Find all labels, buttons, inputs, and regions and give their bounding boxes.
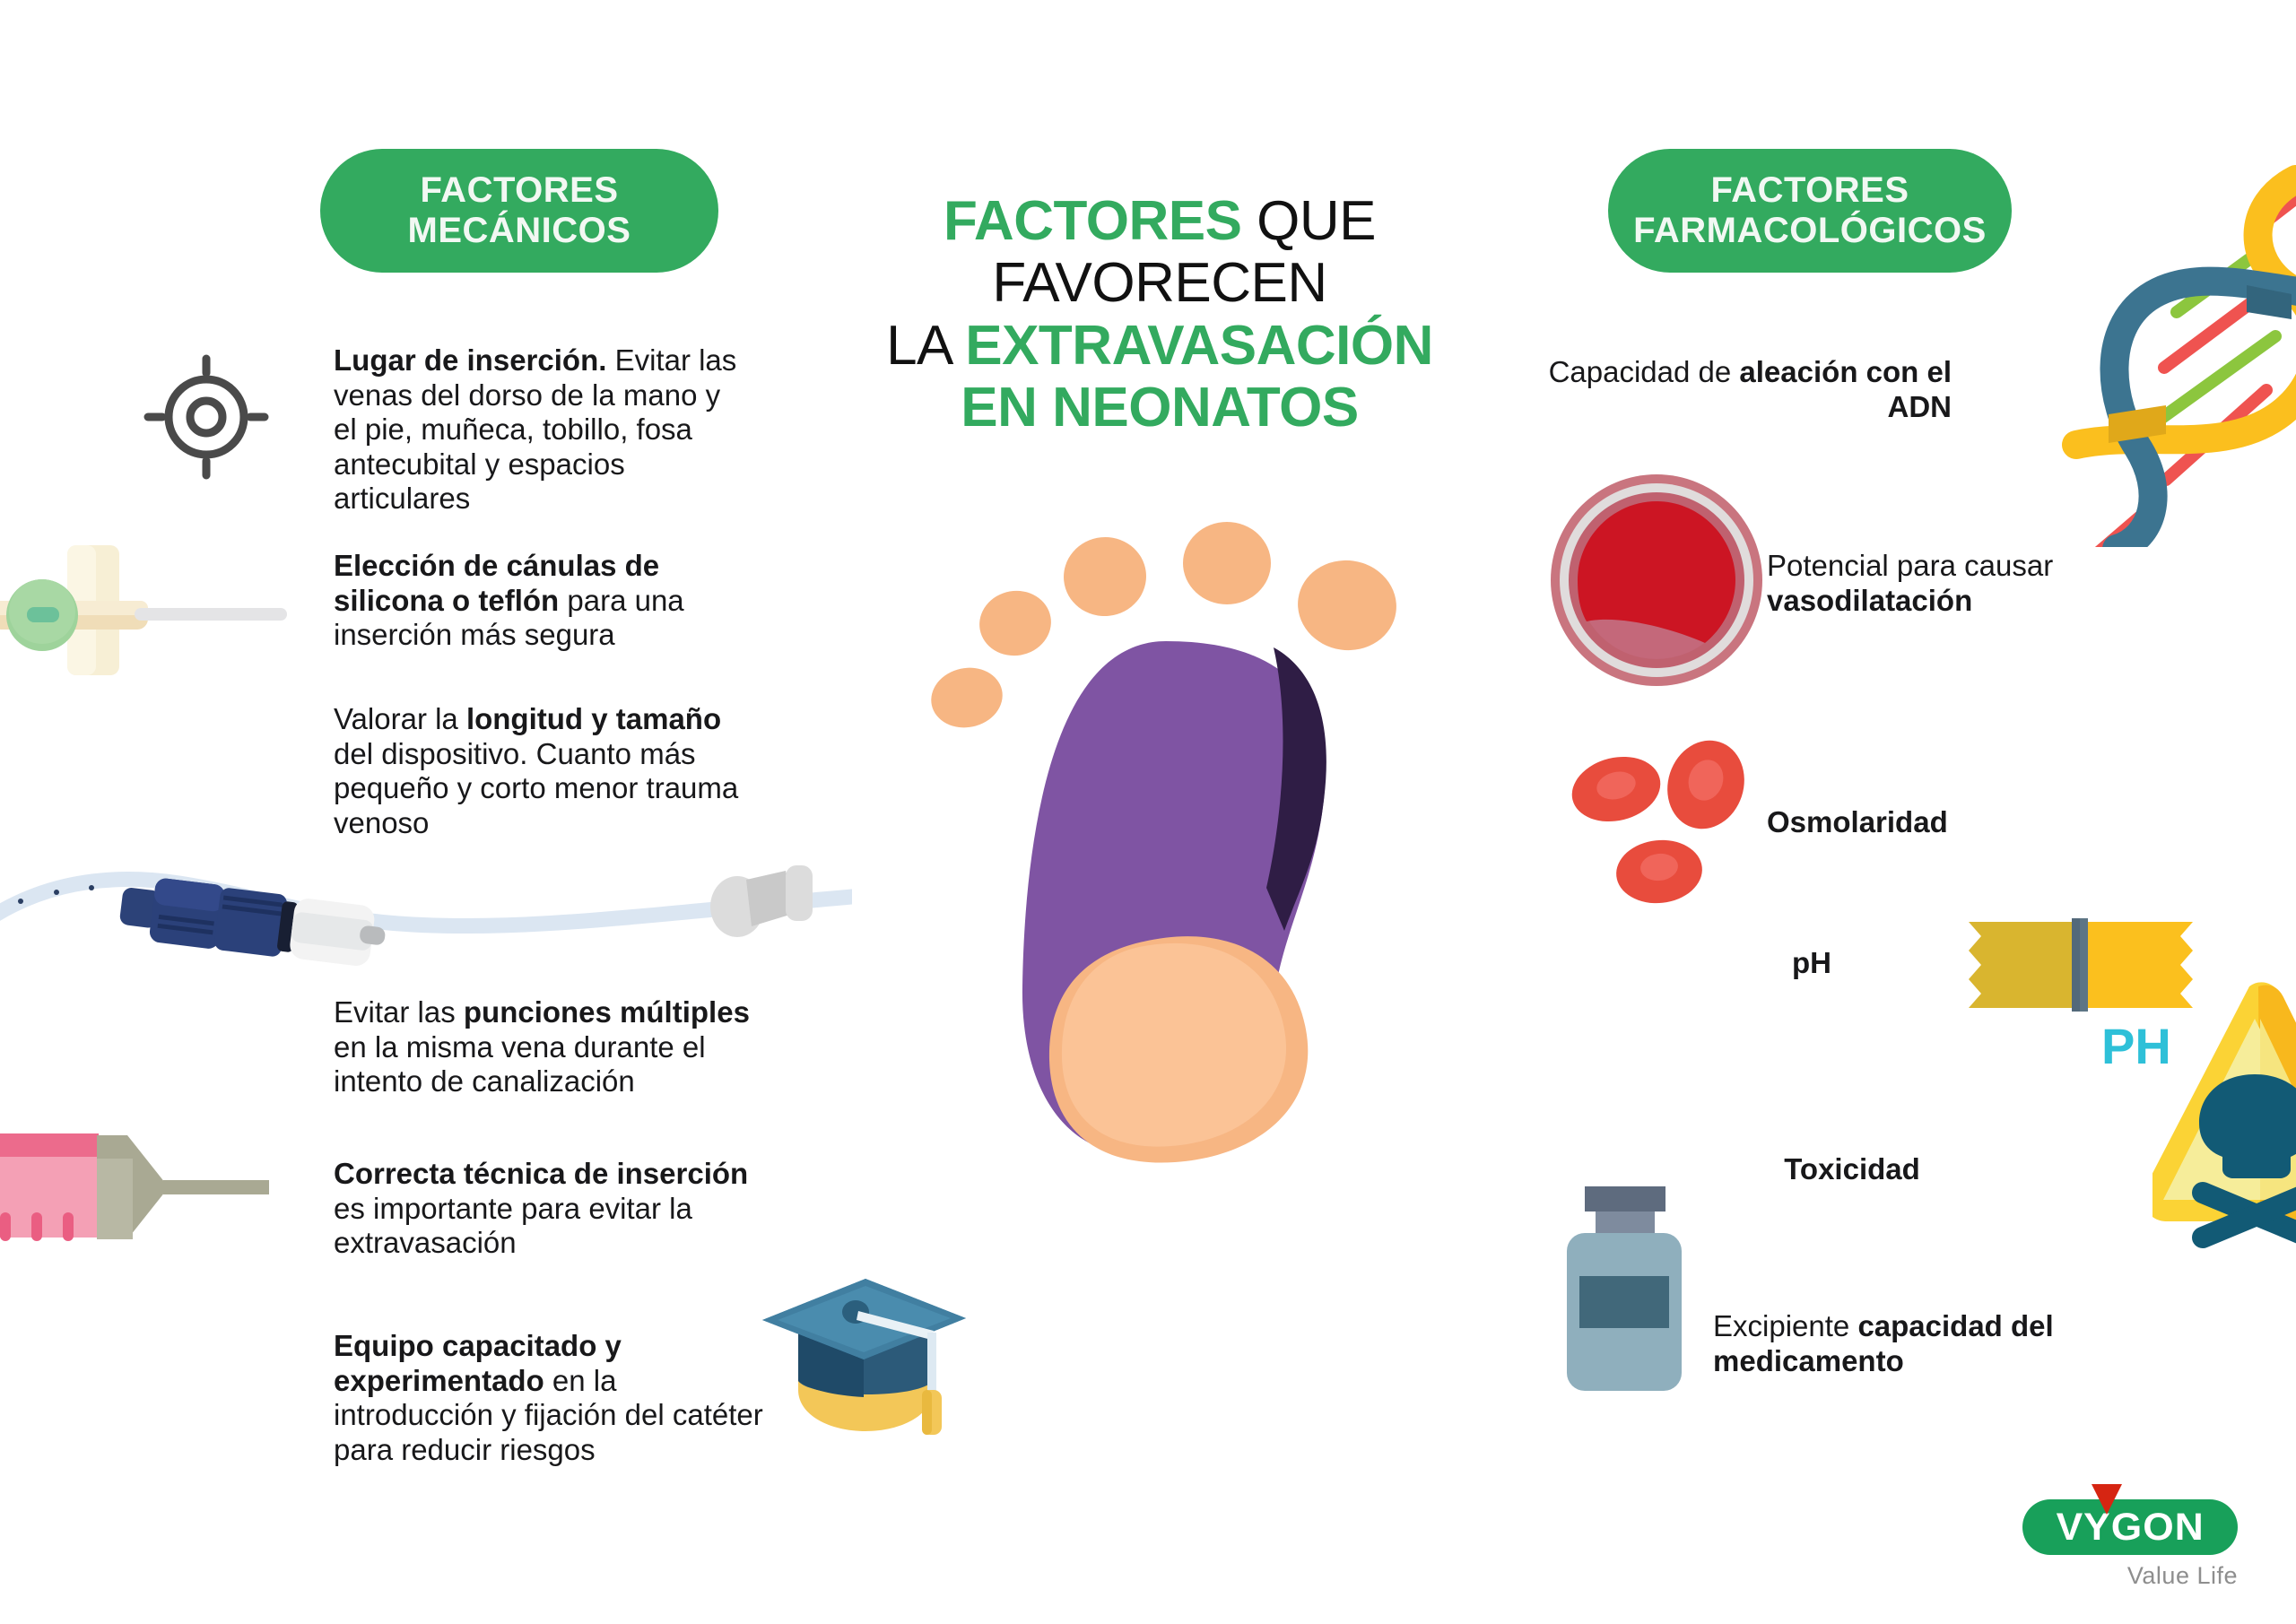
mechanical-item-equipo-capacitado-text: Equipo capacitado y experimentado en la … [334, 1329, 764, 1467]
toxic-warning-icon [2152, 977, 2296, 1264]
title-word-factores: FACTORES [944, 190, 1241, 252]
pharma-item-5-pre: Excipiente [1713, 1309, 1857, 1342]
mechanical-item-2-pre: Valorar la [334, 702, 466, 735]
infographic-canvas: FACTORES MECÁNICOS FACTORES FARMACOLÓGIC… [0, 0, 2296, 1624]
logo-tagline: Value Life [2022, 1562, 2238, 1590]
red-blood-cells-icon [1570, 735, 1794, 924]
logo-triangle-icon [2092, 1484, 2122, 1515]
mechanical-item-correcta-tecnica-text: Correcta técnica de inserción es importa… [334, 1157, 755, 1261]
mechanical-item-lugar-de-insercion-text: Lugar de inserción. Evitar las venas del… [334, 343, 746, 517]
pharma-item-4-bold: Toxicidad [1784, 1152, 1920, 1185]
title-word-extravasacion: EXTRAVASACIÓN [965, 315, 1433, 377]
logo-wordmark: VYGON [2056, 1506, 2204, 1550]
mechanical-item-punciones-multiples-text: Evitar las punciones múltiples en la mis… [334, 995, 755, 1099]
pharmacological-item-toxicidad-text: Toxicidad [1686, 1152, 2018, 1187]
mechanical-item-2-bold: longitud y tamaño [466, 702, 721, 735]
mechanical-item-2-rest: del dispositivo. Cuanto más pequeño y co… [334, 737, 738, 839]
pharmacological-item-aleacion-adn-text: Capacidad de aleación con el ADN [1530, 355, 1952, 424]
mechanical-item-eleccion-de-canulas-text: Elección de cánulas de silicona o teflón… [334, 549, 746, 653]
pharma-item-0-bold: aleación con el ADN [1739, 355, 1952, 423]
catheter-connector-icon [0, 847, 852, 982]
title-word-favorecen: FAVORECEN [877, 252, 1442, 314]
mechanical-item-3-rest: en la misma vena durante el intento de c… [334, 1030, 706, 1099]
page-title: FACTORES QUE FAVORECEN LA EXTRAVASACIÓN … [877, 190, 1442, 439]
mechanical-item-3-bold: punciones múltiples [464, 995, 750, 1029]
graduation-cap-icon [758, 1255, 1009, 1462]
mechanical-item-0-bold: Lugar de inserción. [334, 343, 606, 377]
mechanical-item-4-bold: Correcta técnica de inserción [334, 1157, 748, 1190]
title-word-en-neonatos: EN NEONATOS [877, 377, 1442, 439]
baby-foot-illustration [915, 511, 1462, 1175]
pill-pharmacological-line1: FACTORES [1633, 170, 1987, 211]
mechanical-item-4-rest: es importante para evitar la extravasaci… [334, 1192, 692, 1260]
section-header-mechanical: FACTORES MECÁNICOS [320, 149, 718, 273]
title-word-la: LA [886, 315, 965, 377]
cannula-icon [0, 538, 287, 682]
pill-mechanical-line2: MECÁNICOS [408, 211, 631, 251]
pharma-item-3-bold: pH [1792, 946, 1831, 979]
pharma-item-1-bold: vasodilatación [1767, 584, 1972, 617]
section-header-pharmacological: FACTORES FARMACOLÓGICOS [1608, 149, 2012, 273]
blood-cell-icon [1547, 471, 1767, 690]
vygon-logo: VYGON Value Life [2022, 1480, 2265, 1596]
mechanical-item-longitud-y-tamano-text: Valorar la longitud y tamaño del disposi… [334, 702, 755, 840]
mechanical-item-3-pre: Evitar las [334, 995, 464, 1029]
pill-mechanical-line1: FACTORES [408, 170, 631, 211]
dna-icon [2022, 161, 2296, 547]
pill-pharmacological-line2: FARMACOLÓGICOS [1633, 211, 1987, 251]
pharmacological-item-ph-text: pH [1686, 946, 1937, 981]
title-word-que: QUE [1241, 190, 1376, 252]
pharmacological-item-excipiente-text: Excipiente capacidad del medicamento [1713, 1309, 2099, 1378]
target-icon [139, 350, 274, 484]
medicine-vial-icon [1565, 1179, 1718, 1421]
pharmacological-item-vasodilatacion-text: Potencial para causar vasodilatación [1767, 549, 2188, 618]
pharma-item-2-bold: Osmolaridad [1767, 805, 1948, 838]
logo-pill: VYGON [2022, 1499, 2238, 1555]
pharma-item-1-pre: Potencial para causar [1767, 549, 2053, 582]
syringe-icon [0, 1112, 269, 1273]
pharmacological-item-osmolaridad-text: Osmolaridad [1767, 805, 2161, 840]
pharma-item-0-pre: Capacidad de [1549, 355, 1740, 388]
